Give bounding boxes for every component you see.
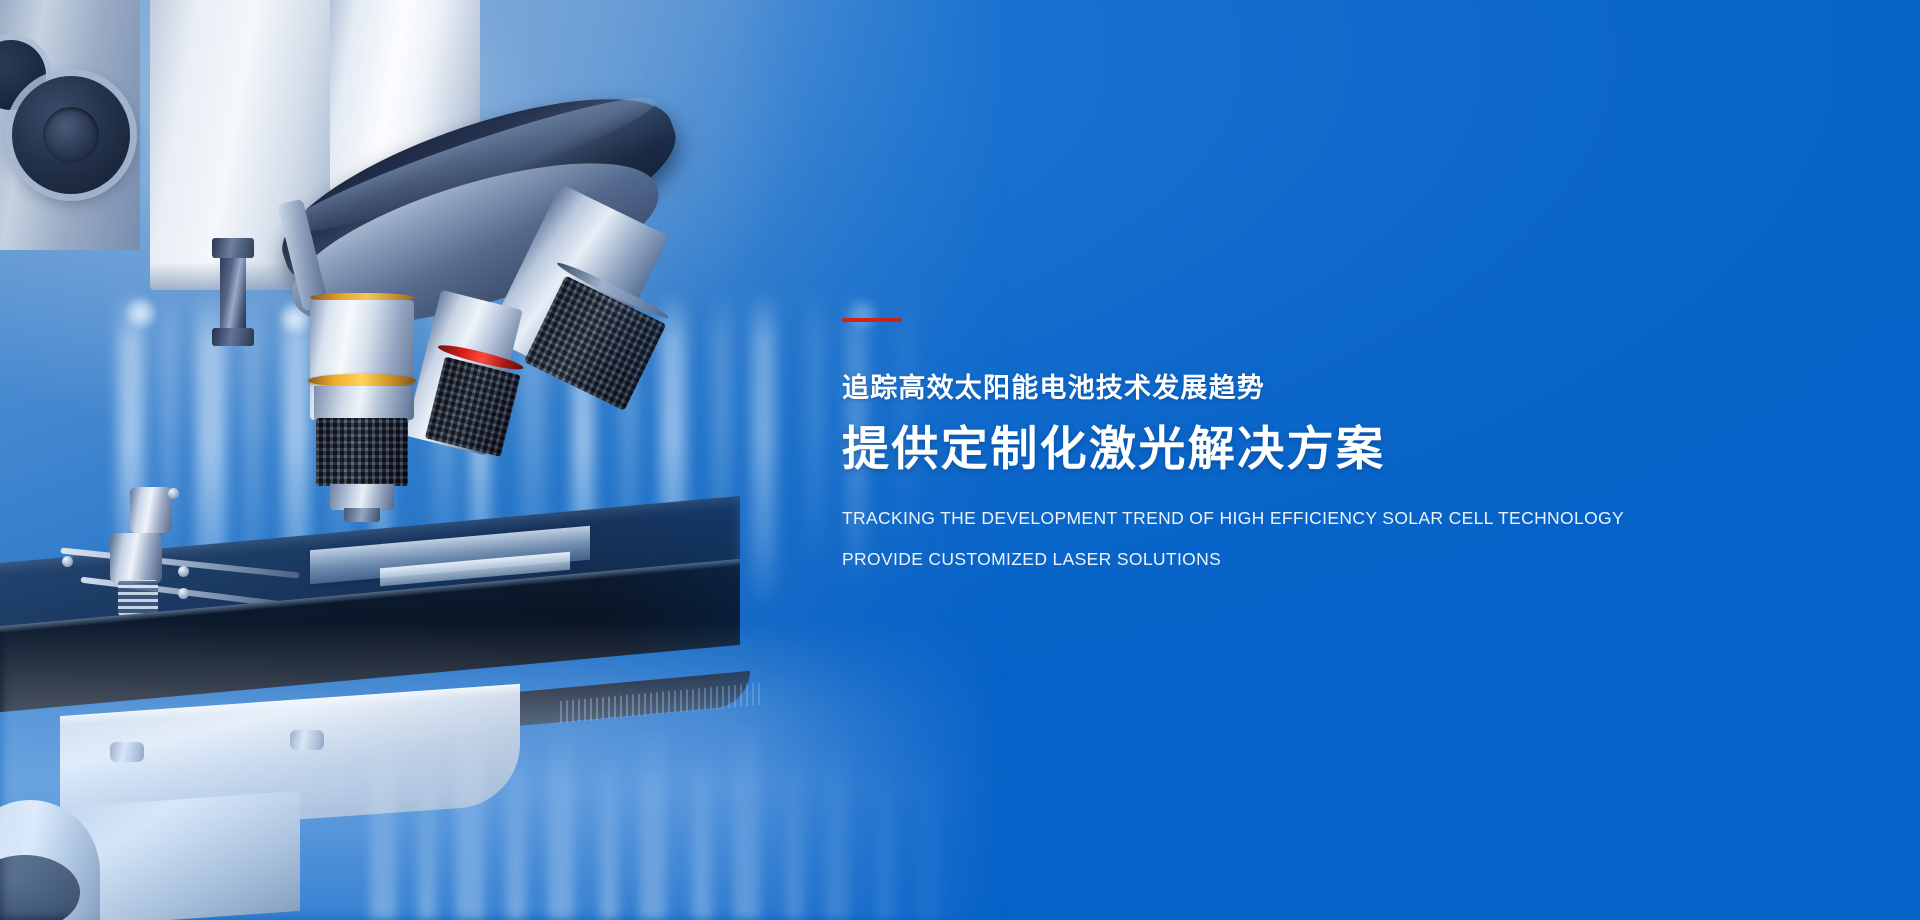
microscope-focus-plate xyxy=(0,0,140,250)
focus-knob-screw xyxy=(60,124,82,146)
hero-english-line-1: TRACKING THE DEVELOPMENT TREND OF HIGH E… xyxy=(842,509,1862,528)
objective-front-collar xyxy=(314,386,410,420)
thumb-screw xyxy=(220,250,246,336)
coarse-focus-knob xyxy=(12,76,130,194)
hero-text-block: 追踪高效太阳能电池技术发展趋势 提供定制化激光解决方案 TRACKING THE… xyxy=(842,318,1862,570)
stage-clip-post-upper xyxy=(130,487,172,533)
objective-front-grip xyxy=(316,418,408,486)
stage-clip-spring xyxy=(118,580,158,616)
stage-clip-nub-a xyxy=(62,556,73,567)
stage-clip-nub-d xyxy=(178,588,189,599)
accent-bar xyxy=(842,318,902,322)
stage-clip-nub-c xyxy=(178,566,189,577)
objective-front-aperture xyxy=(344,508,380,522)
hero-subtitle: 追踪高效太阳能电池技术发展趋势 xyxy=(842,372,1862,406)
hero-english-line-2: PROVIDE CUSTOMIZED LASER SOLUTIONS xyxy=(842,550,1862,569)
objective-front-tip xyxy=(330,484,394,510)
hero-banner: 追踪高效太阳能电池技术发展趋势 提供定制化激光解决方案 TRACKING THE… xyxy=(0,0,1920,920)
reflective-deck-stripes xyxy=(0,620,1010,920)
stage-clip-post-lower xyxy=(110,533,162,583)
stage-clip-nub-b xyxy=(168,488,179,499)
hero-headline: 提供定制化激光解决方案 xyxy=(842,420,1862,477)
